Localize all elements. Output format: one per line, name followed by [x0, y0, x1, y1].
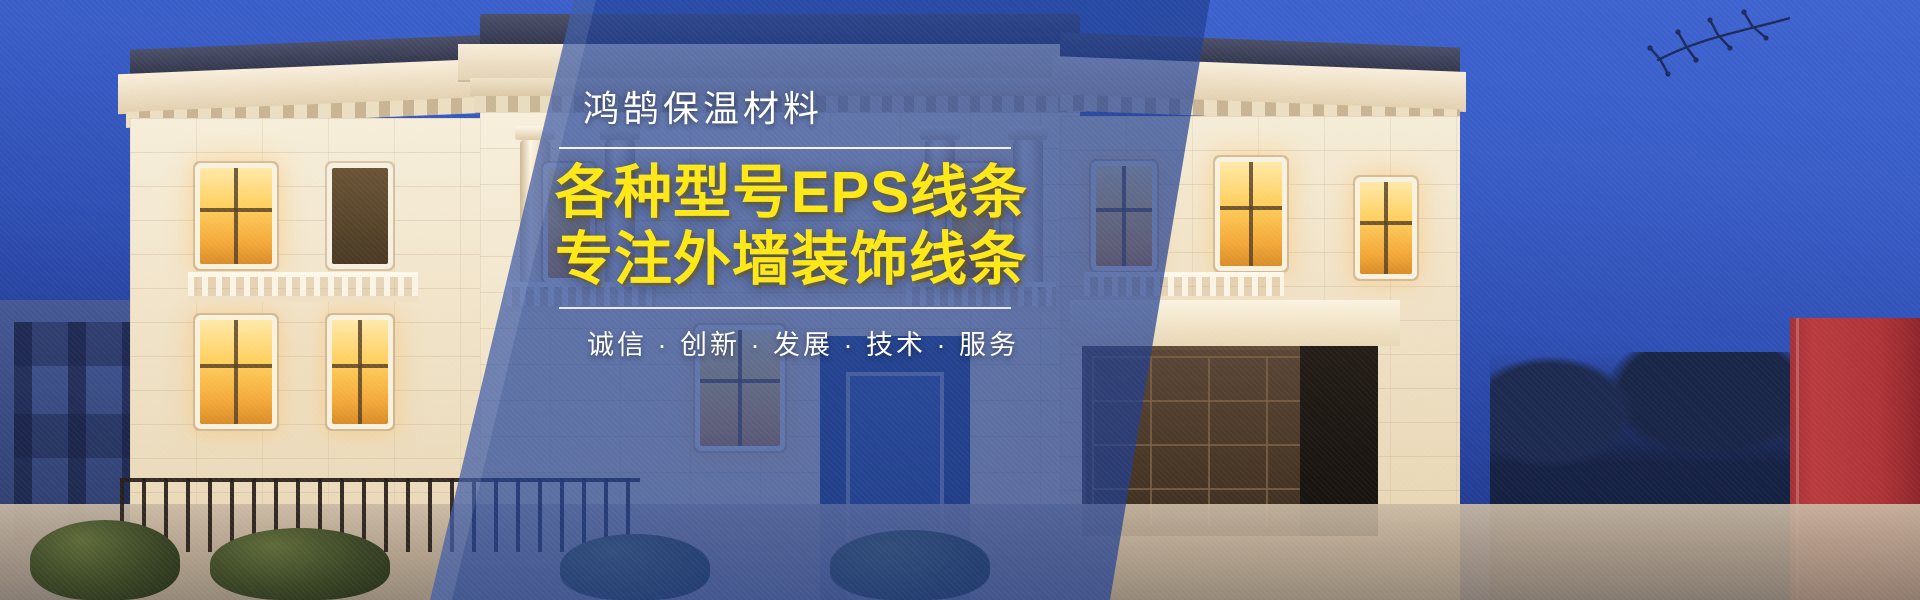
tagline: 诚信 · 创新 · 发展 · 技术 · 服务	[555, 323, 1025, 362]
brand-name: 鸿鹄保温材料	[555, 86, 1025, 131]
headline-line-2: 专注外墙装饰线条	[555, 228, 1025, 293]
window-lit	[1220, 162, 1282, 266]
banner-text-block: 鸿鹄保温材料 各种型号EPS线条 专注外墙装饰线条 诚信 · 创新 · 发展 ·…	[555, 86, 1025, 362]
bare-branch-icon	[1490, 8, 1790, 128]
headline-line-1: 各种型号EPS线条	[555, 161, 1025, 226]
balustrade	[188, 272, 418, 302]
hero-banner: 鸿鹄保温材料 各种型号EPS线条 专注外墙装饰线条 诚信 · 创新 · 发展 ·…	[0, 0, 1920, 600]
shrub	[30, 520, 180, 600]
window-lit	[200, 168, 272, 264]
window-lit	[200, 320, 272, 424]
window-lit	[332, 320, 388, 424]
divider-bottom	[559, 307, 1011, 309]
shrub	[210, 528, 390, 600]
window-lit	[1360, 182, 1412, 274]
divider-top	[559, 147, 1011, 149]
window-dark	[332, 168, 388, 264]
